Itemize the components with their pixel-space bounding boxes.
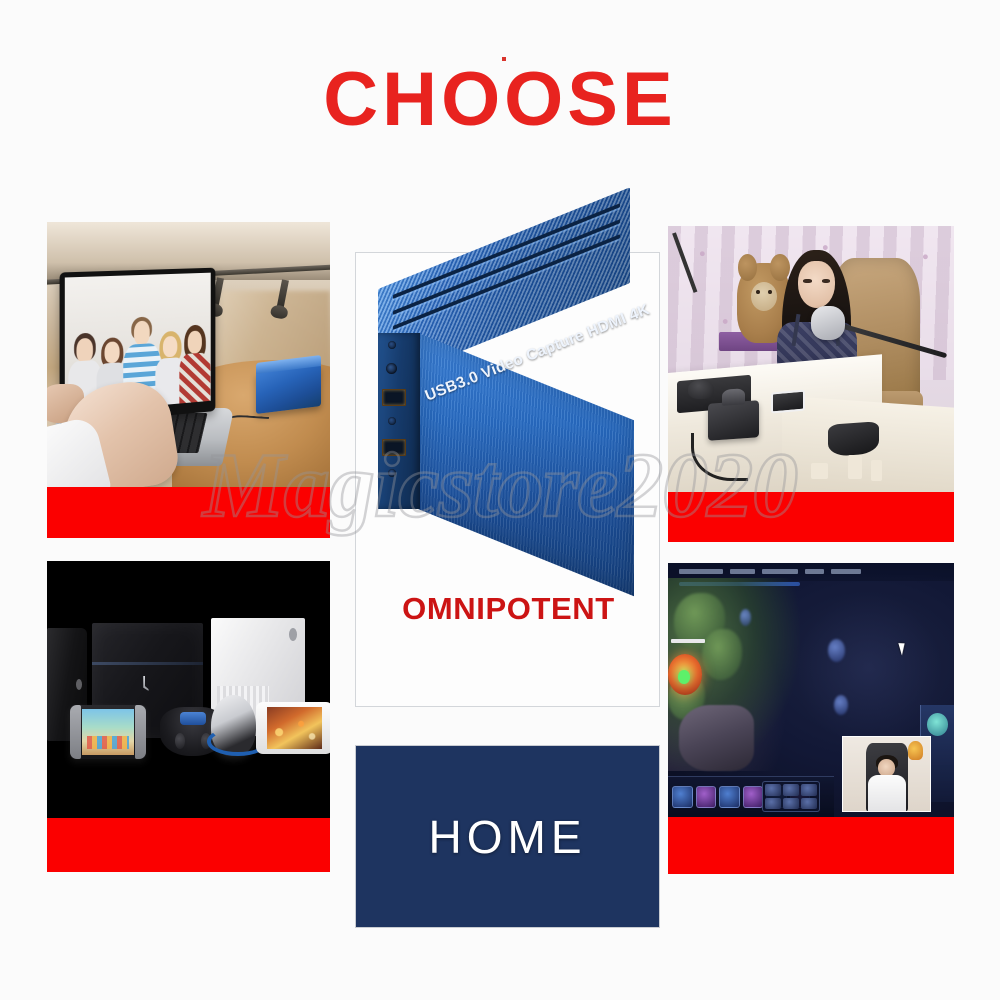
joycon-right (135, 705, 146, 759)
head (105, 341, 120, 363)
page-title: CHOOSE (0, 62, 1000, 138)
scene-bedroom-studio (668, 226, 954, 492)
inventory-item[interactable] (801, 784, 817, 795)
item-inventory (762, 781, 819, 811)
capture-device-in-scene (256, 364, 321, 414)
mouse (688, 380, 714, 399)
inventory-item[interactable] (765, 784, 781, 795)
screw (388, 341, 396, 349)
head (77, 338, 93, 363)
skill-slot[interactable] (743, 786, 764, 807)
skill-slot[interactable] (672, 786, 693, 807)
desk-item (871, 460, 882, 481)
product-panel: USB3.0 Video Capture HDMI 4K OMNIPOTENT (355, 252, 660, 707)
heatsink-fin (393, 219, 620, 315)
microphone (811, 306, 845, 341)
photo-moba-gameplay (668, 563, 954, 817)
audio-jack (386, 363, 397, 374)
person (179, 323, 211, 404)
wiiu-screen (267, 707, 322, 748)
photo-streamer-desk (668, 226, 954, 492)
skill-slot[interactable] (696, 786, 717, 807)
scene-gameplay (668, 563, 954, 817)
screw (388, 469, 396, 477)
desk-item (848, 455, 862, 479)
torso (180, 352, 211, 403)
device-front-face: USB3.0 Video Capture HDMI 4K (418, 333, 634, 596)
streamer-head (878, 759, 895, 777)
webcam-overlay (842, 736, 931, 812)
product-caption: OMNIPOTENT (356, 591, 661, 627)
inventory-item[interactable] (783, 784, 799, 795)
card-laptop-video-call (47, 222, 330, 538)
psvr-headset (211, 695, 256, 757)
switch-screen (82, 709, 134, 754)
bear-face (751, 282, 777, 311)
head (188, 330, 202, 353)
skill-slot[interactable] (719, 786, 740, 807)
card-moba-gameplay (668, 563, 954, 874)
ps-logo (140, 676, 149, 691)
card-streamer-desk (668, 226, 954, 542)
hero-health-bar (671, 639, 705, 643)
streamer-torso (868, 775, 906, 811)
hdmi-port-out (382, 439, 406, 456)
red-band (668, 492, 954, 542)
product-image: USB3.0 Video Capture HDMI 4K (356, 253, 661, 583)
home-panel[interactable]: HOME (355, 745, 660, 928)
inventory-item[interactable] (801, 798, 817, 809)
scene-consoles (47, 561, 330, 818)
hdmi-port-in (382, 389, 406, 406)
red-band (668, 817, 954, 874)
analog-stick (175, 733, 185, 750)
red-band (47, 818, 330, 872)
photo-game-consoles (47, 561, 330, 818)
scene-office (47, 222, 330, 487)
smartphone (771, 389, 805, 413)
capture-device: USB3.0 Video Capture HDMI 4K (372, 289, 640, 541)
red-band (47, 487, 330, 538)
wiiu-gamepad (256, 702, 330, 753)
screw (388, 417, 396, 425)
device-port-side (378, 333, 420, 509)
photo-laptop-video-call (47, 222, 330, 487)
rock-formation (679, 705, 753, 771)
joycon-left (70, 705, 81, 759)
nintendo-switch (70, 705, 146, 759)
head (134, 320, 150, 345)
desk-item (811, 463, 828, 479)
product-marketing-image: CHOOSE (0, 0, 1000, 1000)
inventory-item[interactable] (765, 798, 781, 809)
card-game-consoles (47, 561, 330, 872)
home-label: HOME (429, 810, 587, 864)
lamp (908, 741, 924, 760)
inventory-item[interactable] (783, 798, 799, 809)
